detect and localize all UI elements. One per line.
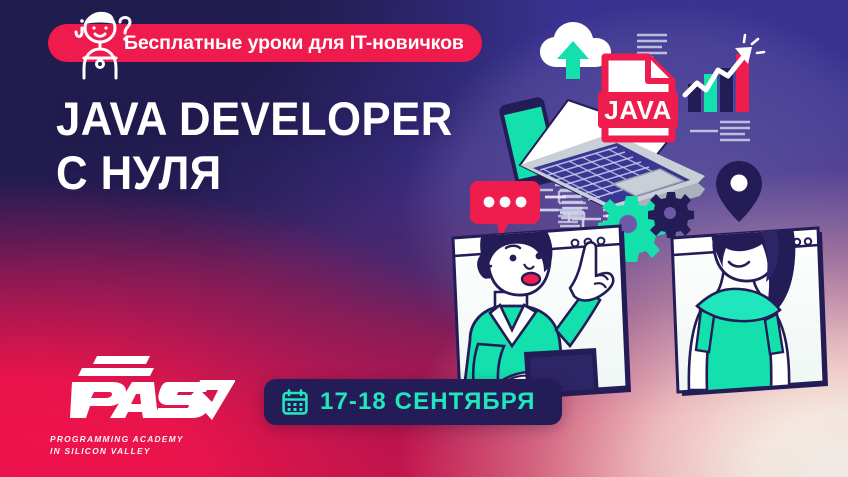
event-date-badge[interactable]: 17-18 СЕНТЯБРЯ (264, 379, 562, 425)
promo-banner: JAVA (0, 0, 848, 477)
pasv-tagline-line-1: PROGRAMMING ACADEMY (50, 434, 235, 446)
pasv-wordmark-icon (50, 352, 235, 424)
pasv-logo[interactable]: PROGRAMMING ACADEMY IN SILICON VALLEY (50, 352, 235, 457)
headline-line-1: JAVA DEVELOPER (56, 92, 453, 146)
headline: JAVA DEVELOPER С НУЛЯ (56, 92, 483, 200)
free-lessons-badge[interactable]: Бесплатные уроки для IT-новичков (48, 24, 482, 62)
event-date-label: 17-18 СЕНТЯБРЯ (320, 388, 536, 416)
headline-line-2: С НУЛЯ (56, 146, 453, 200)
calendar-icon (282, 389, 308, 415)
free-lessons-badge-label: Бесплатные уроки для IT-новичков (124, 32, 464, 55)
pasv-tagline: PROGRAMMING ACADEMY IN SILICON VALLEY (50, 434, 235, 457)
pasv-tagline-line-2: IN SILICON VALLEY (50, 446, 235, 458)
